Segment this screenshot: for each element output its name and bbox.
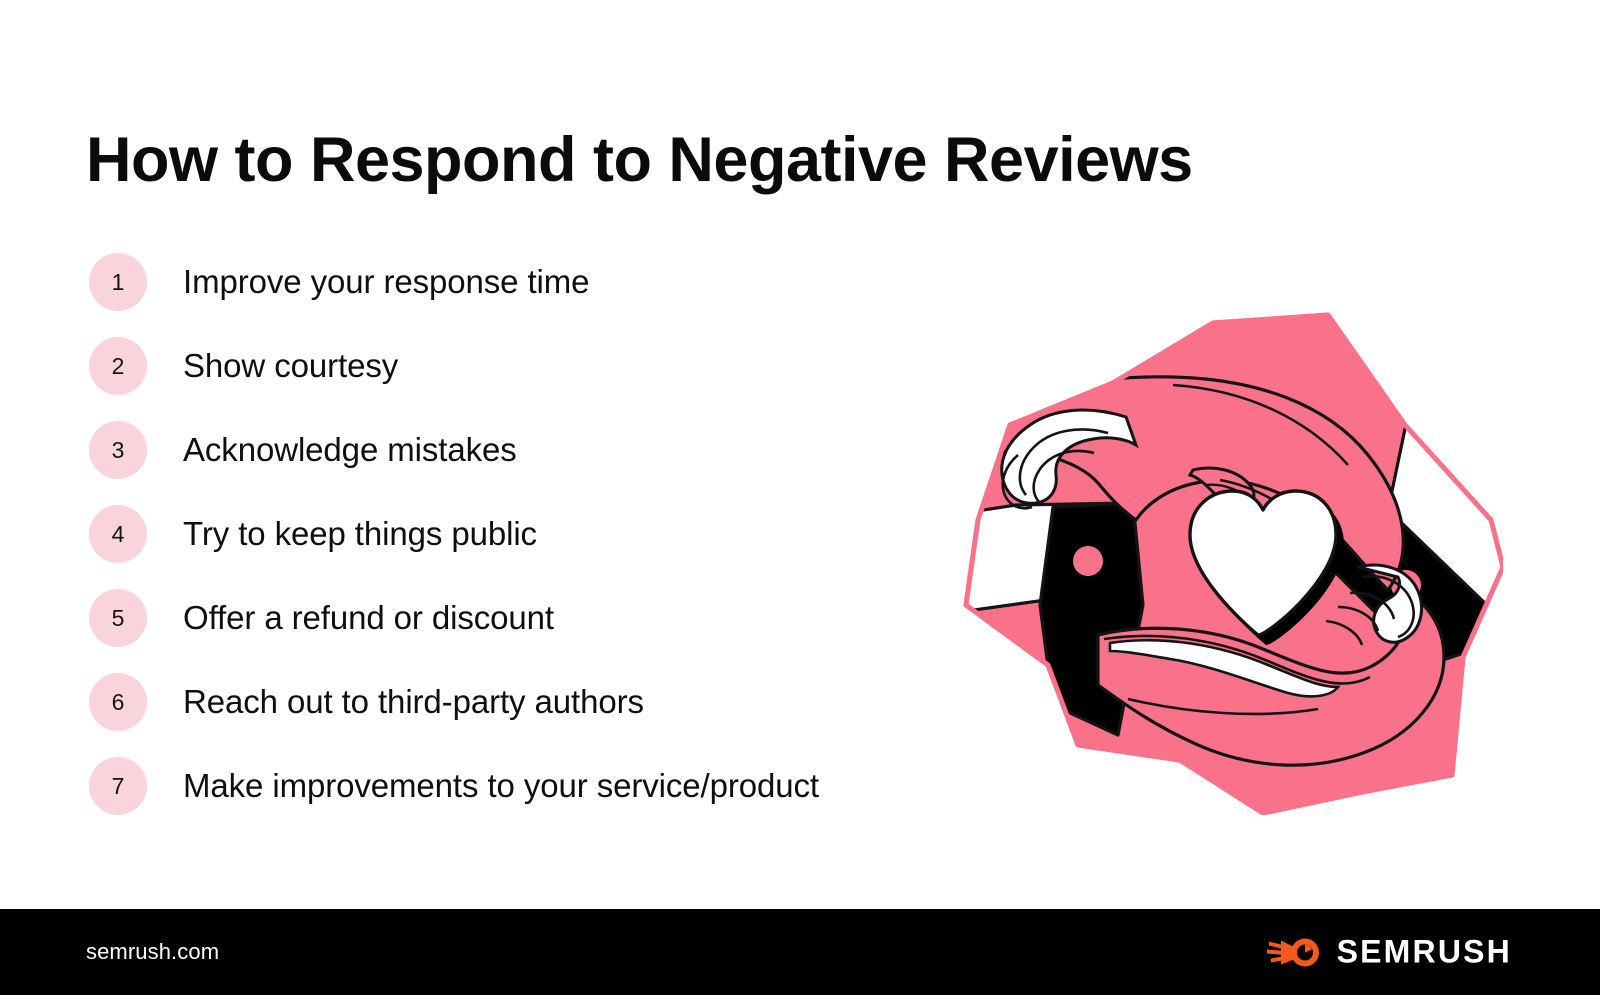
step-label: Reach out to third-party authors — [183, 683, 644, 721]
step-number-badge: 1 — [89, 253, 147, 311]
step-number-badge: 4 — [89, 505, 147, 563]
two-hands-forming-heart-illustration — [958, 305, 1503, 815]
step-label: Improve your response time — [183, 263, 589, 301]
list-item: 5 Offer a refund or discount — [89, 576, 969, 660]
steps-list: 1 Improve your response time 2 Show cour… — [89, 240, 969, 828]
footer-url[interactable]: semrush.com — [86, 939, 219, 965]
step-number-badge: 7 — [89, 757, 147, 815]
step-label: Try to keep things public — [183, 515, 537, 553]
step-label: Offer a refund or discount — [183, 599, 554, 637]
footer-bar: semrush.com SEMRUSH — [0, 909, 1600, 995]
semrush-logo[interactable]: SEMRUSH — [1267, 934, 1512, 971]
infographic-canvas: How to Respond to Negative Reviews 1 Imp… — [0, 0, 1600, 995]
list-item: 2 Show courtesy — [89, 324, 969, 408]
step-number-badge: 3 — [89, 421, 147, 479]
page-title: How to Respond to Negative Reviews — [86, 126, 1506, 194]
step-number-badge: 6 — [89, 673, 147, 731]
list-item: 1 Improve your response time — [89, 240, 969, 324]
list-item: 6 Reach out to third-party authors — [89, 660, 969, 744]
semrush-comet-icon — [1267, 934, 1323, 970]
step-label: Acknowledge mistakes — [183, 431, 517, 469]
sleeve-button — [1073, 546, 1103, 576]
semrush-wordmark: SEMRUSH — [1337, 934, 1512, 971]
list-item: 7 Make improvements to your service/prod… — [89, 744, 969, 828]
list-item: 4 Try to keep things public — [89, 492, 969, 576]
step-number-badge: 5 — [89, 589, 147, 647]
step-number-badge: 2 — [89, 337, 147, 395]
step-label: Show courtesy — [183, 347, 398, 385]
list-item: 3 Acknowledge mistakes — [89, 408, 969, 492]
step-label: Make improvements to your service/produc… — [183, 767, 819, 805]
